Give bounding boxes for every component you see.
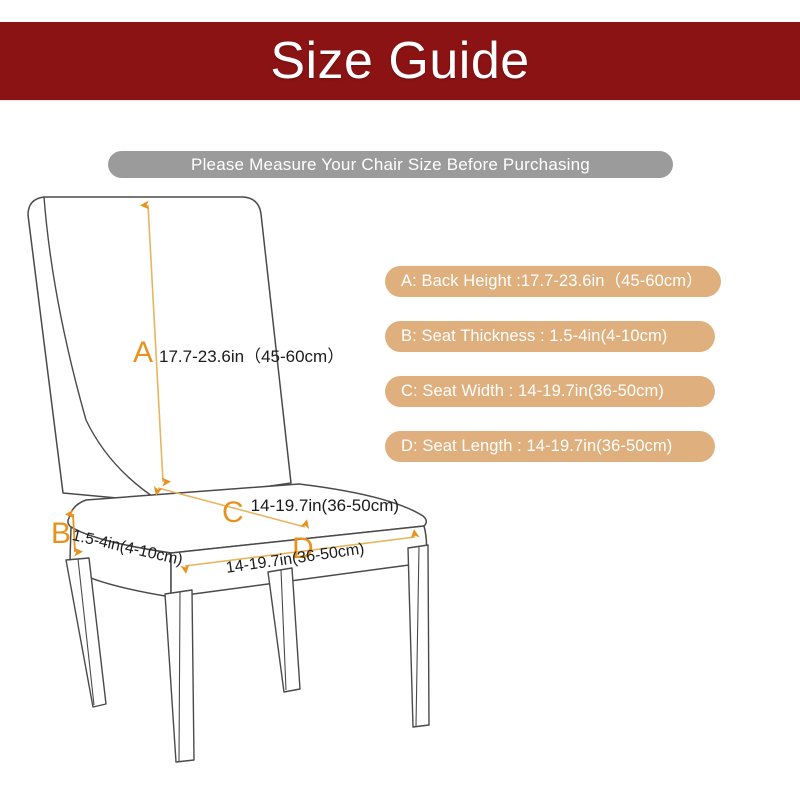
legend-text-c: C: Seat Width : 14-19.7in(36-50cm): [401, 383, 664, 400]
dimension-letter-c: C: [222, 498, 244, 528]
dimension-value-c: 14-19.7in(36-50cm): [251, 497, 399, 514]
chair-legs: [66, 545, 429, 762]
dimension-value-b: 1.5-4in(4-10cm): [70, 528, 184, 569]
legend-row-a: A: Back Height :17.7-23.6in（45-60cm）: [385, 266, 721, 297]
dimension-letter-a: A: [133, 338, 153, 368]
legend-text-b: B: Seat Thickness : 1.5-4in(4-10cm): [401, 328, 667, 345]
page-title: Size Guide: [270, 35, 529, 87]
dimension-letter-b: B: [51, 519, 71, 549]
dimension-label-c: C 14-19.7in(36-50cm): [222, 487, 399, 517]
header-banner: Size Guide: [0, 22, 800, 100]
dimension-value-a: 17.7-23.6in（45-60cm）: [159, 348, 344, 365]
subtitle-text: Please Measure Your Chair Size Before Pu…: [191, 156, 590, 173]
legend-row-b: B: Seat Thickness : 1.5-4in(4-10cm): [385, 321, 715, 352]
dimension-label-a: A 17.7-23.6in（45-60cm）: [133, 338, 344, 368]
legend-row-d: D: Seat Length : 14-19.7in(36-50cm): [385, 431, 715, 462]
legend-text-a: A: Back Height :17.7-23.6in（45-60cm）: [401, 273, 703, 290]
subtitle-pill: Please Measure Your Chair Size Before Pu…: [108, 151, 673, 178]
legend-list: A: Back Height :17.7-23.6in（45-60cm） B: …: [385, 266, 785, 486]
legend-text-d: D: Seat Length : 14-19.7in(36-50cm): [401, 438, 672, 455]
legend-row-c: C: Seat Width : 14-19.7in(36-50cm): [385, 376, 715, 407]
